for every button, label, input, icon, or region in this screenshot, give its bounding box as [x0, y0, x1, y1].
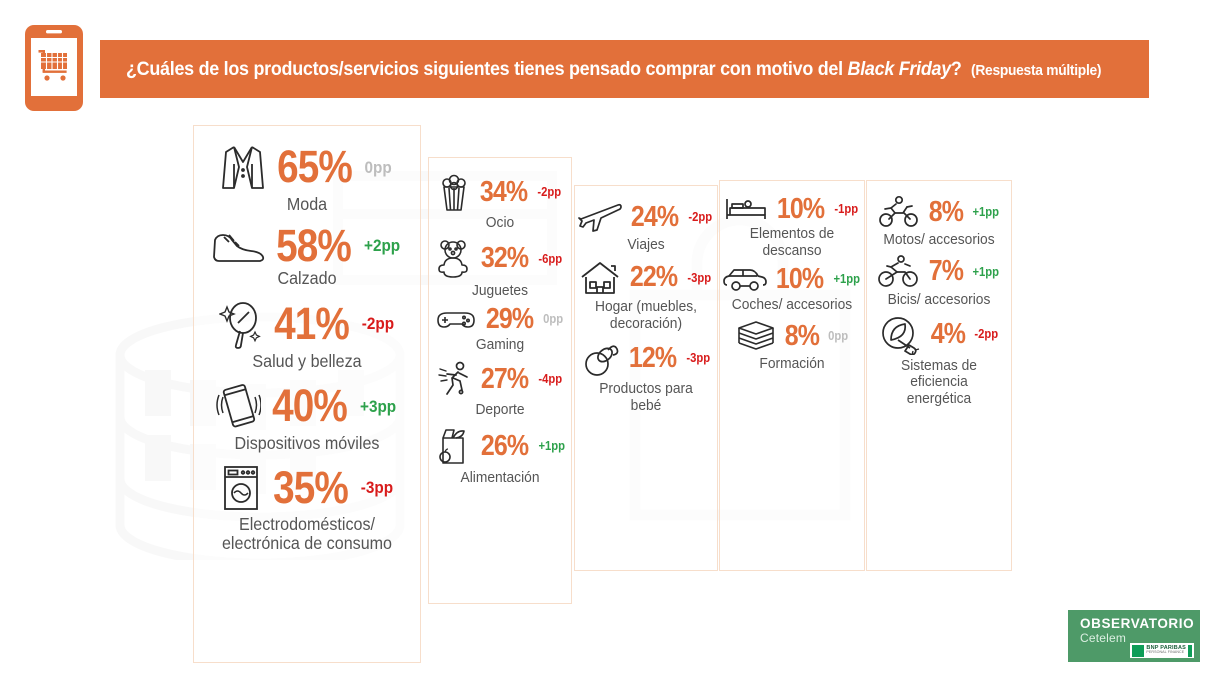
stat-value: 41% — [274, 303, 349, 344]
stat-item: 26% +1pp Alimentación — [429, 421, 571, 489]
stat-label: Hogar (muebles, decoración) — [584, 299, 707, 333]
stat-label: Dispositivos móviles — [207, 434, 408, 454]
stat-item: 24% -2pp Viajes — [575, 196, 717, 256]
stat-delta: 0pp — [365, 159, 392, 176]
pacifier-icon — [580, 338, 620, 378]
stat-label: Alimentación — [438, 470, 561, 487]
stat-label: Deporte — [438, 402, 561, 419]
stat-label: Sistemas de eficiencia energética — [876, 358, 1001, 408]
stat-item: 22% -3pp Hogar (muebles, decoración) — [575, 256, 717, 335]
stat-delta: 0pp — [828, 330, 848, 343]
stat-column-5: 8% +1pp Motos/ accesorios 7% +1pp Bicis/ — [866, 180, 1012, 571]
stat-delta: -3pp — [688, 272, 712, 285]
runner-icon — [436, 359, 472, 399]
stat-delta: -6pp — [539, 253, 563, 266]
stat-column-1: 65% 0pp Moda 58% +2pp Calzado — [193, 125, 421, 663]
stat-item: 4% -2pp Sistemas de eficiencia energétic… — [867, 311, 1011, 410]
stat-item: 40% +3pp Dispositivos móviles — [194, 375, 420, 458]
bnp-bar-icon — [1188, 645, 1192, 657]
stat-delta: 0pp — [544, 313, 564, 326]
stat-delta: -3pp — [687, 352, 711, 365]
stat-delta: +1pp — [973, 266, 1000, 279]
bnp-sub: PERSONAL FINANCE — [1146, 651, 1186, 655]
teddy-bear-icon — [436, 238, 472, 280]
stat-item: 65% 0pp Moda — [194, 136, 420, 219]
stat-value: 12% — [629, 345, 676, 372]
stat-label: Calzado — [207, 269, 408, 289]
smartphone-shopping-cart-icon — [24, 24, 84, 112]
header-bar: ¿Cuáles de los productos/servicios sigui… — [100, 40, 1149, 98]
shoe-icon — [211, 228, 265, 262]
stat-item: 8% 0pp Formación — [720, 315, 864, 375]
stat-item: 29% 0pp Gaming — [429, 302, 571, 356]
stat-label: Motos/ accesorios — [876, 232, 1001, 249]
stat-value: 22% — [630, 264, 677, 291]
stat-label: Elementos de descanso — [729, 226, 854, 260]
stat-delta: -2pp — [974, 328, 998, 341]
stat-column-2: 34% -2pp Ocio 32% -6pp Juguetes — [428, 157, 572, 604]
stat-item: 41% -2pp Salud y belleza — [194, 293, 420, 376]
stat-delta: +3pp — [360, 398, 396, 415]
stat-label: Bicis/ accesorios — [876, 292, 1001, 309]
stat-value: 24% — [631, 204, 678, 231]
stat-delta: -1pp — [835, 203, 859, 216]
stat-label: Ocio — [438, 215, 561, 232]
stat-value: 4% — [931, 321, 965, 348]
title-emphasis: Black Friday — [848, 58, 951, 80]
stat-delta: -3pp — [360, 479, 392, 496]
stat-item: 7% +1pp Bicis/ accesorios — [867, 251, 1011, 311]
house-icon — [579, 260, 621, 296]
stat-item: 27% -4pp Deporte — [429, 355, 571, 421]
stat-value: 32% — [481, 245, 528, 272]
bnp-mark-icon — [1132, 645, 1144, 657]
stat-label: Viajes — [584, 237, 707, 254]
energy-leaf-plug-icon — [879, 315, 923, 355]
page-title: ¿Cuáles de los productos/servicios sigui… — [126, 58, 1101, 81]
airplane-icon — [578, 200, 622, 234]
hand-mirror-icon — [219, 299, 263, 349]
stat-value: 29% — [486, 306, 533, 333]
stat-label: Electrodomésticos/ electrónica de consum… — [207, 515, 408, 554]
books-icon — [735, 319, 777, 353]
stat-item: 58% +2pp Calzado — [194, 219, 420, 293]
stat-label: Salud y belleza — [207, 352, 408, 372]
bed-icon — [724, 195, 768, 223]
stat-label: Formación — [729, 356, 854, 373]
stat-delta: -2pp — [689, 211, 713, 224]
stat-value: 34% — [480, 179, 527, 206]
motorcycle-icon — [877, 195, 921, 229]
stat-value: 27% — [481, 366, 528, 393]
bnp-paribas-logo: BNP PARIBAS PERSONAL FINANCE — [1130, 643, 1194, 658]
stat-delta: +1pp — [538, 440, 565, 453]
observatorio-cetelem-logo: OBSERVATORIO Cetelem BNP PARIBAS PERSONA… — [1068, 610, 1200, 662]
mobile-phone-icon — [215, 381, 261, 431]
stat-delta: -4pp — [539, 373, 563, 386]
popcorn-icon — [437, 172, 471, 212]
stat-label: Coches/ accesorios — [729, 297, 854, 314]
stat-item: 12% -3pp Productos para bebé — [575, 334, 717, 417]
bicycle-icon — [877, 255, 921, 289]
stat-item: 10% +1pp Coches/ accesorios — [720, 262, 864, 316]
stat-delta: -2pp — [538, 186, 562, 199]
stat-value: 7% — [929, 258, 963, 285]
stat-column-3: 24% -2pp Viajes 22% -3pp Hogar (muebles, — [574, 185, 718, 571]
jacket-icon — [220, 142, 266, 192]
stat-item: 10% -1pp Elementos de descanso — [720, 191, 864, 262]
stat-label: Juguetes — [438, 283, 561, 300]
stat-value: 58% — [276, 225, 351, 266]
stat-label: Moda — [207, 195, 408, 215]
logo-title: OBSERVATORIO — [1080, 617, 1200, 631]
stat-value: 10% — [777, 196, 824, 223]
stat-item: 8% +1pp Motos/ accesorios — [867, 191, 1011, 251]
title-main: ¿Cuáles de los productos/servicios sigui… — [126, 58, 848, 80]
stat-label: Productos para bebé — [584, 381, 707, 415]
car-icon — [723, 266, 767, 294]
stat-delta: +1pp — [973, 206, 1000, 219]
stat-item: 35% -3pp Electrodomésticos/ electrónica … — [194, 458, 420, 558]
gamepad-icon — [435, 306, 477, 334]
stat-value: 8% — [929, 199, 963, 226]
stat-column-4: 10% -1pp Elementos de descanso 10% +1pp — [719, 180, 865, 571]
stat-delta: -2pp — [361, 315, 393, 332]
infographic-slide: ¿Cuáles de los productos/servicios sigui… — [0, 0, 1208, 684]
stat-delta: +1pp — [833, 273, 860, 286]
stat-value: 35% — [273, 467, 348, 508]
stat-value: 10% — [776, 266, 823, 293]
stat-label: Gaming — [438, 337, 561, 354]
stat-value: 65% — [277, 146, 352, 187]
stat-value: 26% — [481, 433, 528, 460]
stat-item: 32% -6pp Juguetes — [429, 234, 571, 302]
title-note: (Respuesta múltiple) — [971, 62, 1101, 79]
stat-value: 8% — [785, 323, 819, 350]
grocery-bag-icon — [434, 425, 472, 467]
stat-value: 40% — [272, 385, 347, 426]
stat-delta: +2pp — [364, 237, 400, 254]
title-qmark: ? — [951, 58, 962, 80]
washing-machine-icon — [220, 464, 262, 512]
stat-item: 34% -2pp Ocio — [429, 168, 571, 234]
